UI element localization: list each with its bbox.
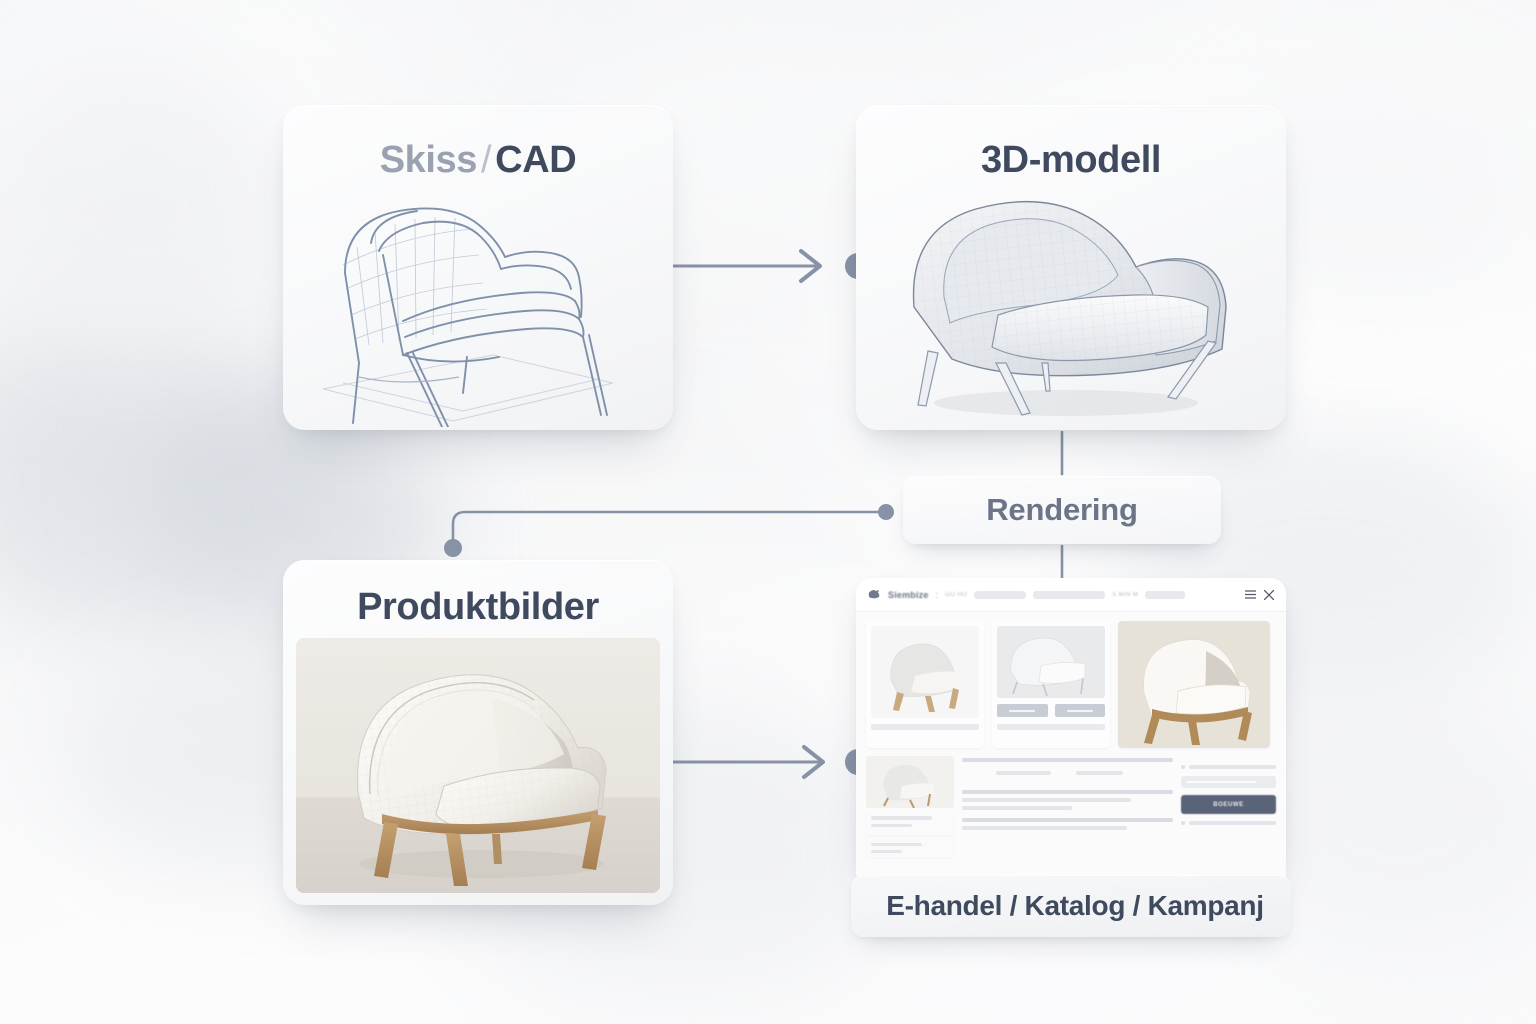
product-tile-caption-bar [997, 724, 1105, 730]
thumbnail-stub-card [866, 812, 954, 835]
browser-brand-colon: : [936, 590, 939, 600]
brand-logo-icon [868, 589, 881, 600]
clay-3d-armchair-render-icon [856, 175, 1286, 425]
node-card-product-photos[interactable]: Produktbilder [283, 560, 673, 905]
product-tile-action-button[interactable] [997, 704, 1048, 717]
browser-nav-placeholder-1[interactable] [974, 591, 1026, 599]
browser-nav-mid-text[interactable]: S MIN M [1112, 592, 1138, 598]
product-tile[interactable] [1118, 621, 1270, 748]
node-card-3d-model[interactable]: 3D-modell [856, 105, 1286, 430]
product-tile-image [1118, 621, 1270, 748]
product-tile-row [866, 621, 1276, 748]
product-tile-image [997, 626, 1105, 698]
browser-topbar: Siembize : GO HO S MIN M [856, 578, 1286, 612]
card-title-product-photos: Produktbilder [283, 560, 673, 626]
blurred-interior-background [0, 0, 1536, 1024]
product-tile[interactable] [866, 621, 984, 748]
add-to-cart-button[interactable]: BOEUWE [1181, 795, 1276, 814]
thumbnail-column [866, 756, 954, 857]
diagram-canvas: Skiss/CAD [0, 0, 1536, 1024]
side-meta-row [1181, 765, 1276, 769]
output-channels-label: E-handel / Katalog / Kampanj [886, 890, 1263, 922]
browser-nav-placeholder-3[interactable] [1145, 591, 1185, 599]
product-tile[interactable] [992, 621, 1110, 748]
product-tile-caption-bar [871, 724, 979, 730]
card-title-sketch-part1: Skiss [380, 139, 477, 181]
close-icon[interactable] [1264, 590, 1274, 600]
product-tile-action-row [997, 704, 1105, 717]
thumbnail-stub-card [866, 839, 954, 857]
browser-nav-placeholder-2[interactable] [1033, 591, 1105, 599]
card-title-sketch-part2: CAD [495, 139, 576, 181]
rendering-step-chip[interactable]: Rendering [903, 476, 1221, 544]
output-channels-bar[interactable]: E-handel / Katalog / Kampanj [851, 875, 1291, 937]
product-photo-image [296, 638, 660, 893]
product-tile-image [871, 626, 979, 718]
ecommerce-browser-mockup[interactable]: Siembize : GO HO S MIN M [856, 578, 1286, 878]
browser-content: BOEUWE [856, 612, 1286, 857]
thumbnail-image[interactable] [866, 756, 954, 808]
browser-brand-label: Siembize [888, 590, 929, 600]
detail-side-column: BOEUWE [1181, 756, 1276, 857]
rendering-step-label: Rendering [986, 492, 1138, 528]
side-meta-row [1181, 821, 1276, 825]
card-title-sketch-slash: / [477, 139, 495, 181]
detail-text-column [962, 756, 1173, 857]
wireframe-armchair-sketch-icon [283, 177, 673, 427]
product-tile-action-button[interactable] [1055, 704, 1106, 717]
card-title-sketch: Skiss/CAD [283, 105, 673, 179]
side-input-field[interactable] [1181, 776, 1276, 788]
node-card-sketch[interactable]: Skiss/CAD [283, 105, 673, 430]
product-detail-row: BOEUWE [866, 756, 1276, 857]
hamburger-icon[interactable] [1245, 590, 1256, 599]
browser-nav-left-text[interactable]: GO HO [945, 592, 967, 598]
card-title-3d-model: 3D-modell [856, 105, 1286, 179]
